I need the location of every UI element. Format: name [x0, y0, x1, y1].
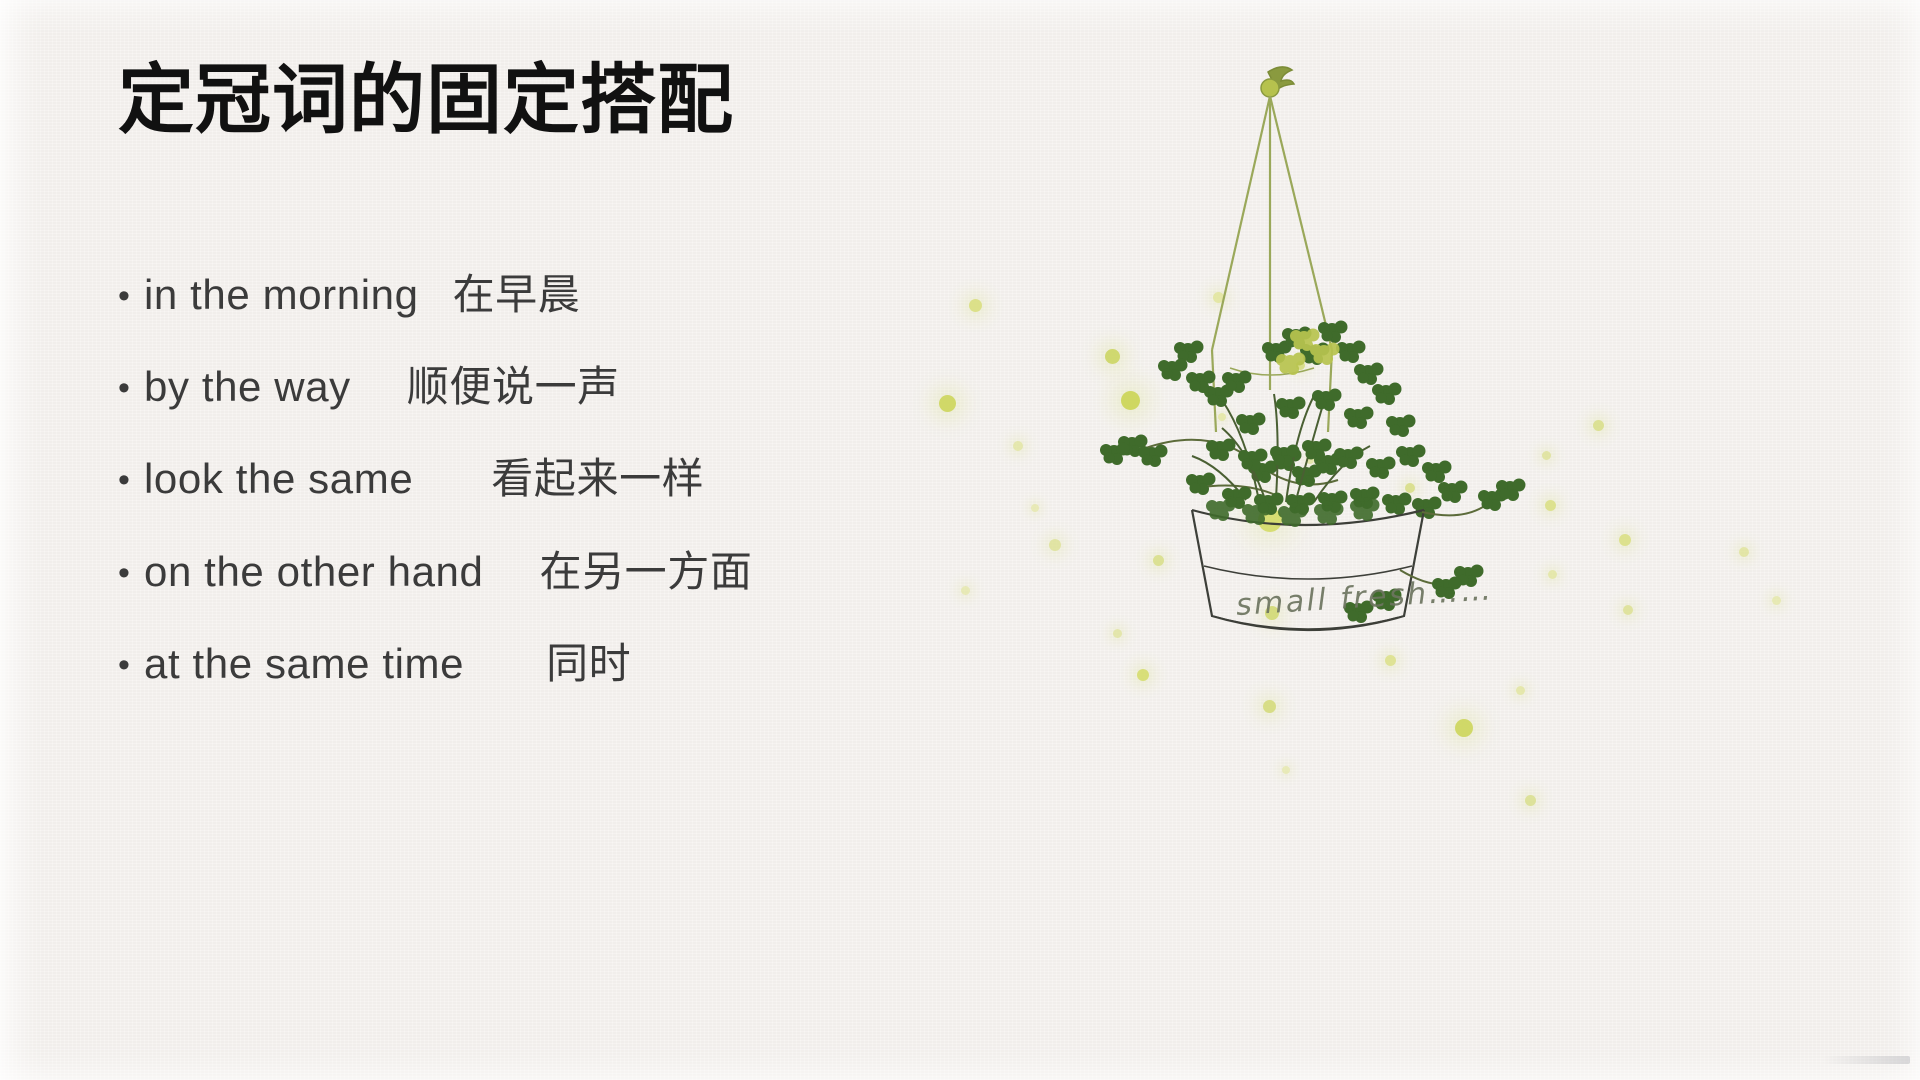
decorative-dot — [1263, 700, 1276, 713]
plant-highlight-leaves — [1276, 329, 1340, 376]
list-item-english: at the same time — [144, 641, 464, 687]
decorative-dot — [1218, 413, 1226, 421]
decorative-dot — [1282, 766, 1290, 774]
hanger-hook — [1261, 67, 1294, 97]
page-title: 定冠词的固定搭配 — [118, 58, 734, 142]
list-item-english: on the other hand — [144, 549, 483, 595]
bullet-list: • in the morning 在早晨 • by the way 顺便说一声 … — [118, 272, 1098, 733]
decorative-dot — [1213, 292, 1224, 303]
decorative-dot — [1137, 669, 1149, 681]
decorative-dot — [1772, 596, 1781, 605]
decorative-dot — [1113, 629, 1122, 638]
decorative-dot — [1121, 391, 1140, 410]
bullet-marker-icon: • — [118, 371, 144, 405]
decorative-dot — [1455, 719, 1473, 737]
list-item-chinese: 顺便说一声 — [407, 364, 620, 410]
bullet-marker-icon: • — [118, 648, 144, 682]
list-item: • look the same 看起来一样 — [118, 456, 1098, 502]
decorative-dot — [1296, 361, 1305, 370]
slide-canvas: 定冠词的固定搭配 • in the morning 在早晨 • by the w… — [0, 0, 1920, 1080]
bullet-marker-icon: • — [118, 279, 144, 313]
list-item-chinese: 同时 — [546, 641, 631, 687]
decorative-dot — [1516, 686, 1525, 695]
decorative-dot — [1153, 555, 1164, 566]
list-item-english: in the morning — [144, 272, 419, 318]
corner-watermark — [1822, 1056, 1910, 1064]
bullet-marker-icon: • — [118, 556, 144, 590]
decorative-dot — [1548, 570, 1557, 579]
bullet-marker-icon: • — [118, 463, 144, 497]
decorative-dot — [1258, 508, 1282, 532]
decorative-dot — [1306, 456, 1314, 464]
plant-stems — [1192, 392, 1370, 502]
list-item-chinese: 在另一方面 — [539, 549, 752, 595]
hanger-cords — [1212, 96, 1332, 432]
vine-leaves-left — [1100, 435, 1344, 488]
hanging-planter-illustration — [1100, 50, 1840, 750]
trailing-vine-right — [1400, 502, 1490, 584]
plant-foliage — [1158, 321, 1468, 520]
decorative-dot — [1739, 547, 1749, 557]
small-fresh-caption: small fresh…… — [1235, 572, 1495, 623]
list-item-chinese: 在早晨 — [453, 272, 581, 318]
list-item: • in the morning 在早晨 — [118, 272, 1098, 318]
decorative-dot — [1385, 655, 1396, 666]
pot-soil — [1206, 499, 1380, 528]
list-item-english: by the way — [144, 364, 351, 410]
list-item: • at the same time 同时 — [118, 641, 1098, 687]
decorative-dot — [1542, 451, 1551, 460]
decorative-dot — [1105, 349, 1120, 364]
list-item-english: look the same — [144, 456, 413, 502]
list-item-chinese: 看起来一样 — [491, 456, 704, 502]
decorative-dot — [1619, 534, 1631, 546]
list-item: • by the way 顺便说一声 — [118, 364, 1098, 410]
decorative-dot — [1525, 795, 1536, 806]
trailing-vine — [1140, 440, 1338, 498]
decorative-dot — [1545, 500, 1556, 511]
decorative-dot — [1593, 420, 1604, 431]
decorative-dot — [1405, 483, 1415, 493]
decorative-dot — [1623, 605, 1633, 615]
list-item: • on the other hand 在另一方面 — [118, 549, 1098, 595]
